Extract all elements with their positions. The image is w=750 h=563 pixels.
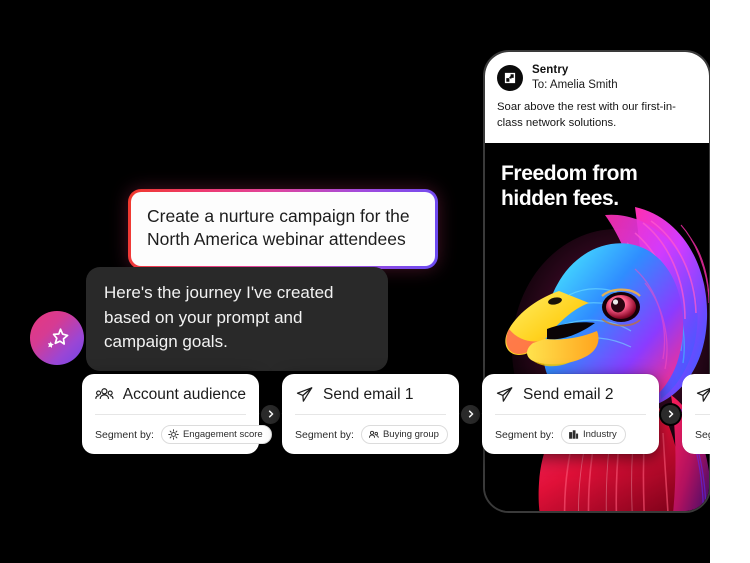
assistant-response-text: Here's the journey I've created based on… xyxy=(104,281,370,355)
send-email-icon xyxy=(295,385,314,404)
email-body: Freedom from hidden fees. xyxy=(485,143,709,513)
email-recipient: To: Amelia Smith xyxy=(532,78,618,93)
segment-pill-text: Engagement score xyxy=(183,429,263,440)
journey-card-footer: Segment by: Engagement score xyxy=(95,415,246,444)
assistant-response-bubble: Here's the journey I've created based on… xyxy=(86,267,388,371)
sparkle-icon xyxy=(42,323,72,353)
segment-by-label: Segment by: xyxy=(295,429,354,441)
user-prompt-bubble: Create a nurture campaign for the North … xyxy=(128,189,438,269)
journey-card-header: Send email 1 xyxy=(295,385,446,414)
email-preview-text: Soar above the rest with our first-in-cl… xyxy=(497,100,697,131)
journey-card-footer: Segment by: Industry xyxy=(495,415,646,444)
user-prompt-text: Create a nurture campaign for the North … xyxy=(147,205,419,251)
segment-by-label: Segment by: xyxy=(495,429,554,441)
send-email-icon xyxy=(495,385,514,404)
email-header: Sentry To: Amelia Smith Soar above the r… xyxy=(485,52,709,143)
segment-pill-text: Industry xyxy=(583,429,617,440)
segment-pill-text: Buying group xyxy=(383,429,439,440)
segment-by-label: Segment by: xyxy=(95,429,154,441)
segment-pill-buying-group[interactable]: Buying group xyxy=(361,425,448,444)
user-prompt-inner: Create a nurture campaign for the North … xyxy=(131,192,435,266)
journey-card-header: Send email 2 xyxy=(495,385,646,414)
buying-group-icon xyxy=(368,429,379,440)
journey-connector-3 xyxy=(659,413,682,415)
canvas-stage: Sentry To: Amelia Smith Soar above the r… xyxy=(0,0,750,563)
email-brand-name: Sentry xyxy=(532,63,618,78)
journey-card-title: Send email 1 xyxy=(323,386,413,404)
sentry-logo-icon xyxy=(497,65,523,91)
journey-card-footer: Segment by: Buying group xyxy=(295,415,446,444)
ai-assistant-avatar xyxy=(30,311,84,365)
journey-card-header: Account audience xyxy=(95,385,246,414)
industry-icon xyxy=(568,429,579,440)
journey-card-title: Send email 2 xyxy=(523,386,613,404)
email-headline: Freedom from hidden fees. xyxy=(485,143,709,212)
journey-card-account-audience[interactable]: Account audience Segment by: En xyxy=(82,374,259,454)
journey-card-send-email-2[interactable]: Send email 2 Segment by: Industry xyxy=(482,374,659,454)
journey-connector-2 xyxy=(459,413,482,415)
chevron-right-icon[interactable] xyxy=(661,405,680,424)
neon-eagle-illustration xyxy=(485,199,709,513)
journey-card-title: Account audience xyxy=(123,386,246,404)
journey-card-send-email-1[interactable]: Send email 1 Segment by: Buying group xyxy=(282,374,459,454)
chevron-right-icon[interactable] xyxy=(261,405,280,424)
journey-connector-1 xyxy=(259,413,282,415)
audience-group-icon xyxy=(95,385,114,404)
email-sender-text: Sentry To: Amelia Smith xyxy=(532,63,618,92)
segment-pill-engagement-score[interactable]: Engagement score xyxy=(161,425,272,444)
journey-flow: Account audience Segment by: En xyxy=(82,371,750,457)
email-sender-row: Sentry To: Amelia Smith xyxy=(497,63,697,92)
right-edge-strip xyxy=(710,0,750,563)
engagement-score-icon xyxy=(168,429,179,440)
chevron-right-icon[interactable] xyxy=(461,405,480,424)
segment-pill-industry[interactable]: Industry xyxy=(561,425,626,444)
